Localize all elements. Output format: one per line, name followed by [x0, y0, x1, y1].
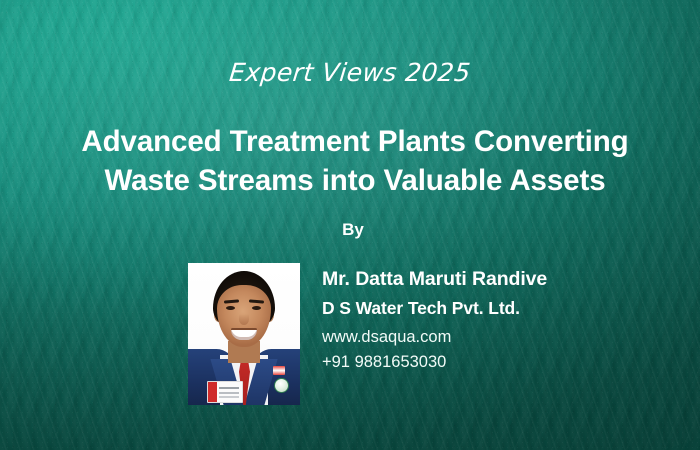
speaker-phone: +91 9881653030 [322, 350, 547, 375]
by-label: By [0, 220, 700, 240]
eye-right [252, 306, 261, 310]
title-line-1: Advanced Treatment Plants Converting [35, 122, 675, 161]
flag-pin-icon [273, 366, 285, 375]
round-badge-icon [274, 378, 289, 393]
speaker-company: D S Water Tech Pvt. Ltd. [322, 295, 547, 322]
speaker-photo-frame [188, 263, 300, 405]
page-title: Advanced Treatment Plants Converting Was… [35, 122, 675, 200]
speaker-website: www.dsaqua.com [322, 325, 547, 350]
nose [239, 314, 249, 325]
eye-left [226, 306, 235, 310]
speaker-photo [188, 263, 300, 405]
eyebrow-label: Expert Views 2025 [0, 58, 700, 87]
speaker-details: Mr. Datta Maruti Randive D S Water Tech … [322, 266, 547, 375]
speaker-name: Mr. Datta Maruti Randive [322, 266, 547, 292]
expert-views-poster: Expert Views 2025 Advanced Treatment Pla… [0, 0, 700, 450]
name-badge [207, 381, 243, 403]
poster-content: Expert Views 2025 Advanced Treatment Pla… [0, 0, 700, 450]
title-line-2: Waste Streams into Valuable Assets [35, 161, 675, 200]
